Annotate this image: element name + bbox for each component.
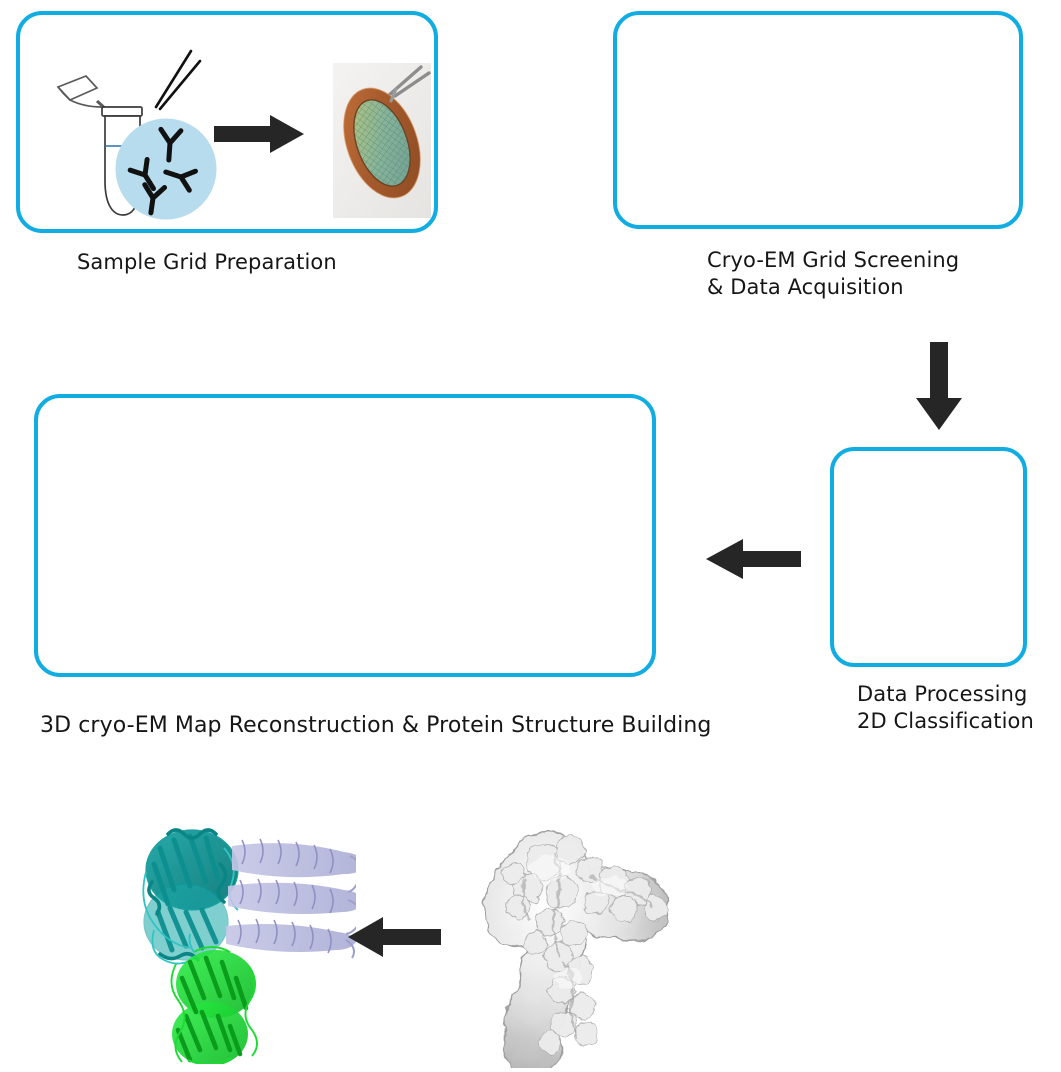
- sample-tube-illustration: [50, 43, 230, 228]
- caption-sample-grid-preparation: Sample Grid Preparation: [77, 249, 437, 276]
- panel-sample-grid-preparation: [16, 11, 438, 233]
- caption-map-reconstruction-model-building: 3D cryo-EM Map Reconstruction & Protein …: [40, 712, 740, 741]
- panel-grid-screening-data-acquisition: [613, 11, 1023, 229]
- caption-data-processing-2d-classification: Data Processing 2D Classification: [857, 681, 1061, 736]
- em-grid-photo: [333, 63, 431, 218]
- arrow-classification-to-reconstruction: [703, 535, 803, 583]
- panel-data-processing-2d-classification: [830, 447, 1027, 667]
- caption-grid-screening-data-acquisition: Cryo-EM Grid Screening & Data Acquisitio…: [707, 247, 1037, 302]
- arrow-screening-to-classification: [908, 340, 970, 432]
- panel-map-reconstruction-model-building: [34, 394, 656, 677]
- arrow-inside-reconstruction-panel: [345, 914, 443, 960]
- workflow-diagram: Sample Grid Preparation: [0, 0, 1061, 757]
- protein-ribbon-model: [124, 812, 356, 1064]
- cryo-em-density-map: [458, 810, 702, 1068]
- arrow-inside-sample-panel: [212, 112, 306, 156]
